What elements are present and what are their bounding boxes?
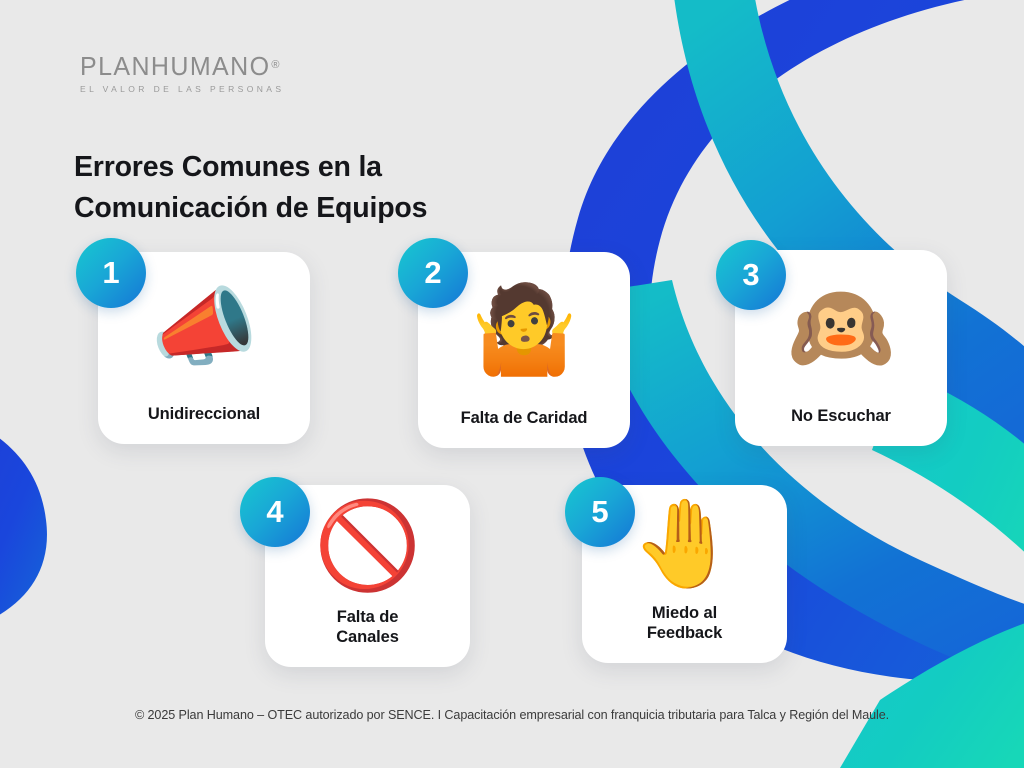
registered-trademark-icon: ® [271, 59, 279, 71]
step-badge-4: 4 [240, 477, 310, 547]
step-badge-5: 5 [565, 477, 635, 547]
footer-legal-text: © 2025 Plan Humano – OTEC autorizado por… [0, 708, 1024, 722]
logo-wordmark: PLANHUMANO [80, 54, 270, 80]
error-card-2-label: Falta de Caridad [453, 408, 596, 448]
error-card-1-label: Unidireccional [140, 404, 268, 444]
step-badge-3: 3 [716, 240, 786, 310]
page-title: Errores Comunes en la Comunicación de Eq… [74, 147, 504, 228]
logo-wordmark-row: PLANHUMANO® [80, 54, 284, 79]
error-card-4-label: Falta de Canales [328, 607, 407, 667]
step-badge-1: 1 [76, 238, 146, 308]
brand-logo: PLANHUMANO® EL VALOR DE LAS PERSONAS [80, 54, 284, 94]
infographic-canvas: PLANHUMANO® EL VALOR DE LAS PERSONAS Err… [0, 0, 1024, 768]
logo-tagline: EL VALOR DE LAS PERSONAS [80, 85, 284, 94]
step-badge-2: 2 [398, 238, 468, 308]
ribbon-teal-corner [840, 612, 1024, 768]
ribbon-blue-left-sliver [0, 420, 47, 620]
error-card-5-label: Miedo al Feedback [639, 603, 730, 663]
error-card-3-label: No Escuchar [783, 406, 899, 446]
